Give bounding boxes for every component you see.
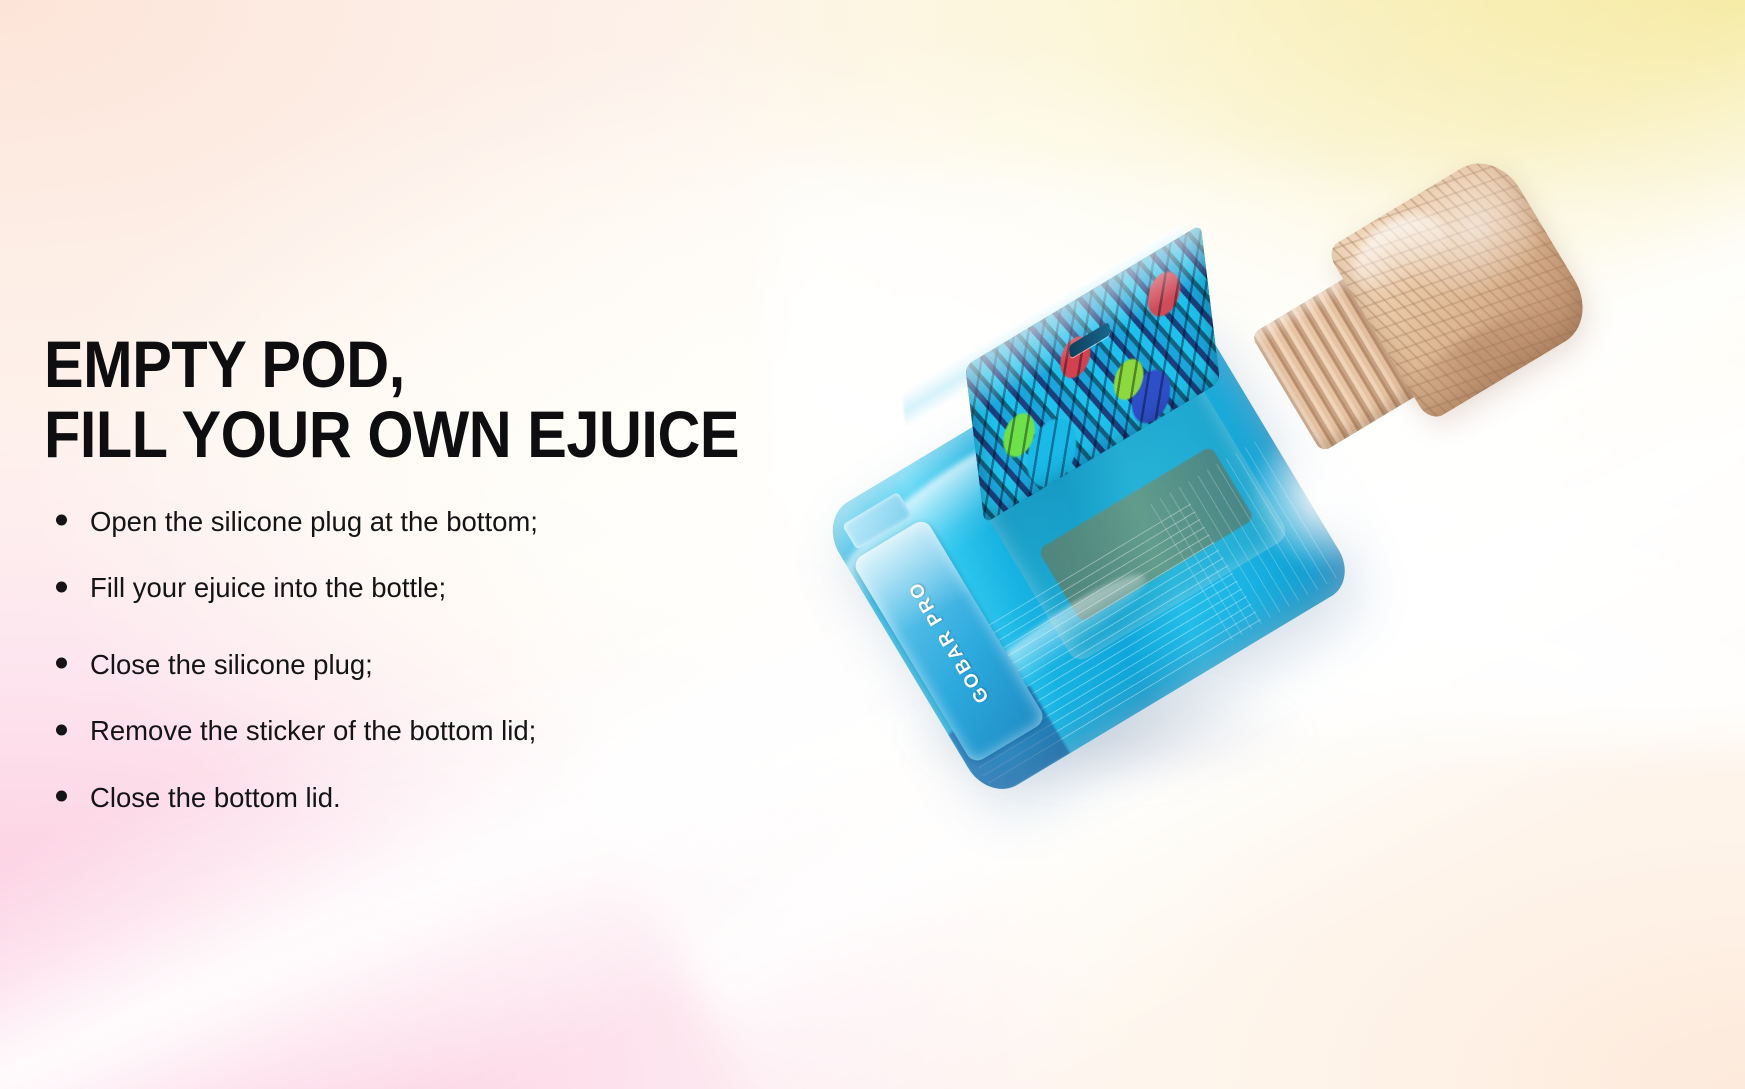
promo-banner: EMPTY POD, FILL YOUR OWN EJUICE Open the… xyxy=(0,0,1745,1089)
copy-block: EMPTY POD, FILL YOUR OWN EJUICE Open the… xyxy=(44,330,924,814)
headline-line-1: EMPTY POD, xyxy=(44,330,836,400)
bullet-icon xyxy=(56,581,67,592)
instruction-list: Open the silicone plug at the bottom; Fi… xyxy=(44,506,924,814)
list-item-label: Close the bottom lid. xyxy=(90,782,341,813)
list-item: Close the silicone plug; xyxy=(44,649,924,681)
list-item-label: Close the silicone plug; xyxy=(90,649,373,680)
bullet-icon xyxy=(56,724,67,735)
list-item: Fill your ejuice into the bottle; xyxy=(44,572,924,604)
page-title: EMPTY POD, FILL YOUR OWN EJUICE xyxy=(44,330,836,470)
list-item: Remove the sticker of the bottom lid; xyxy=(44,715,924,747)
list-item-label: Remove the sticker of the bottom lid; xyxy=(90,715,536,746)
list-item-label: Open the silicone plug at the bottom; xyxy=(90,506,538,537)
headline-line-2: FILL YOUR OWN EJUICE xyxy=(44,400,836,470)
product-image: GOBAR PRO xyxy=(855,245,1615,855)
bullet-icon xyxy=(56,515,67,526)
list-item: Close the bottom lid. xyxy=(44,782,924,814)
list-item: Open the silicone plug at the bottom; xyxy=(44,506,924,538)
bullet-icon xyxy=(56,790,67,801)
list-item-label: Fill your ejuice into the bottle; xyxy=(90,572,446,603)
bullet-icon xyxy=(56,658,67,669)
